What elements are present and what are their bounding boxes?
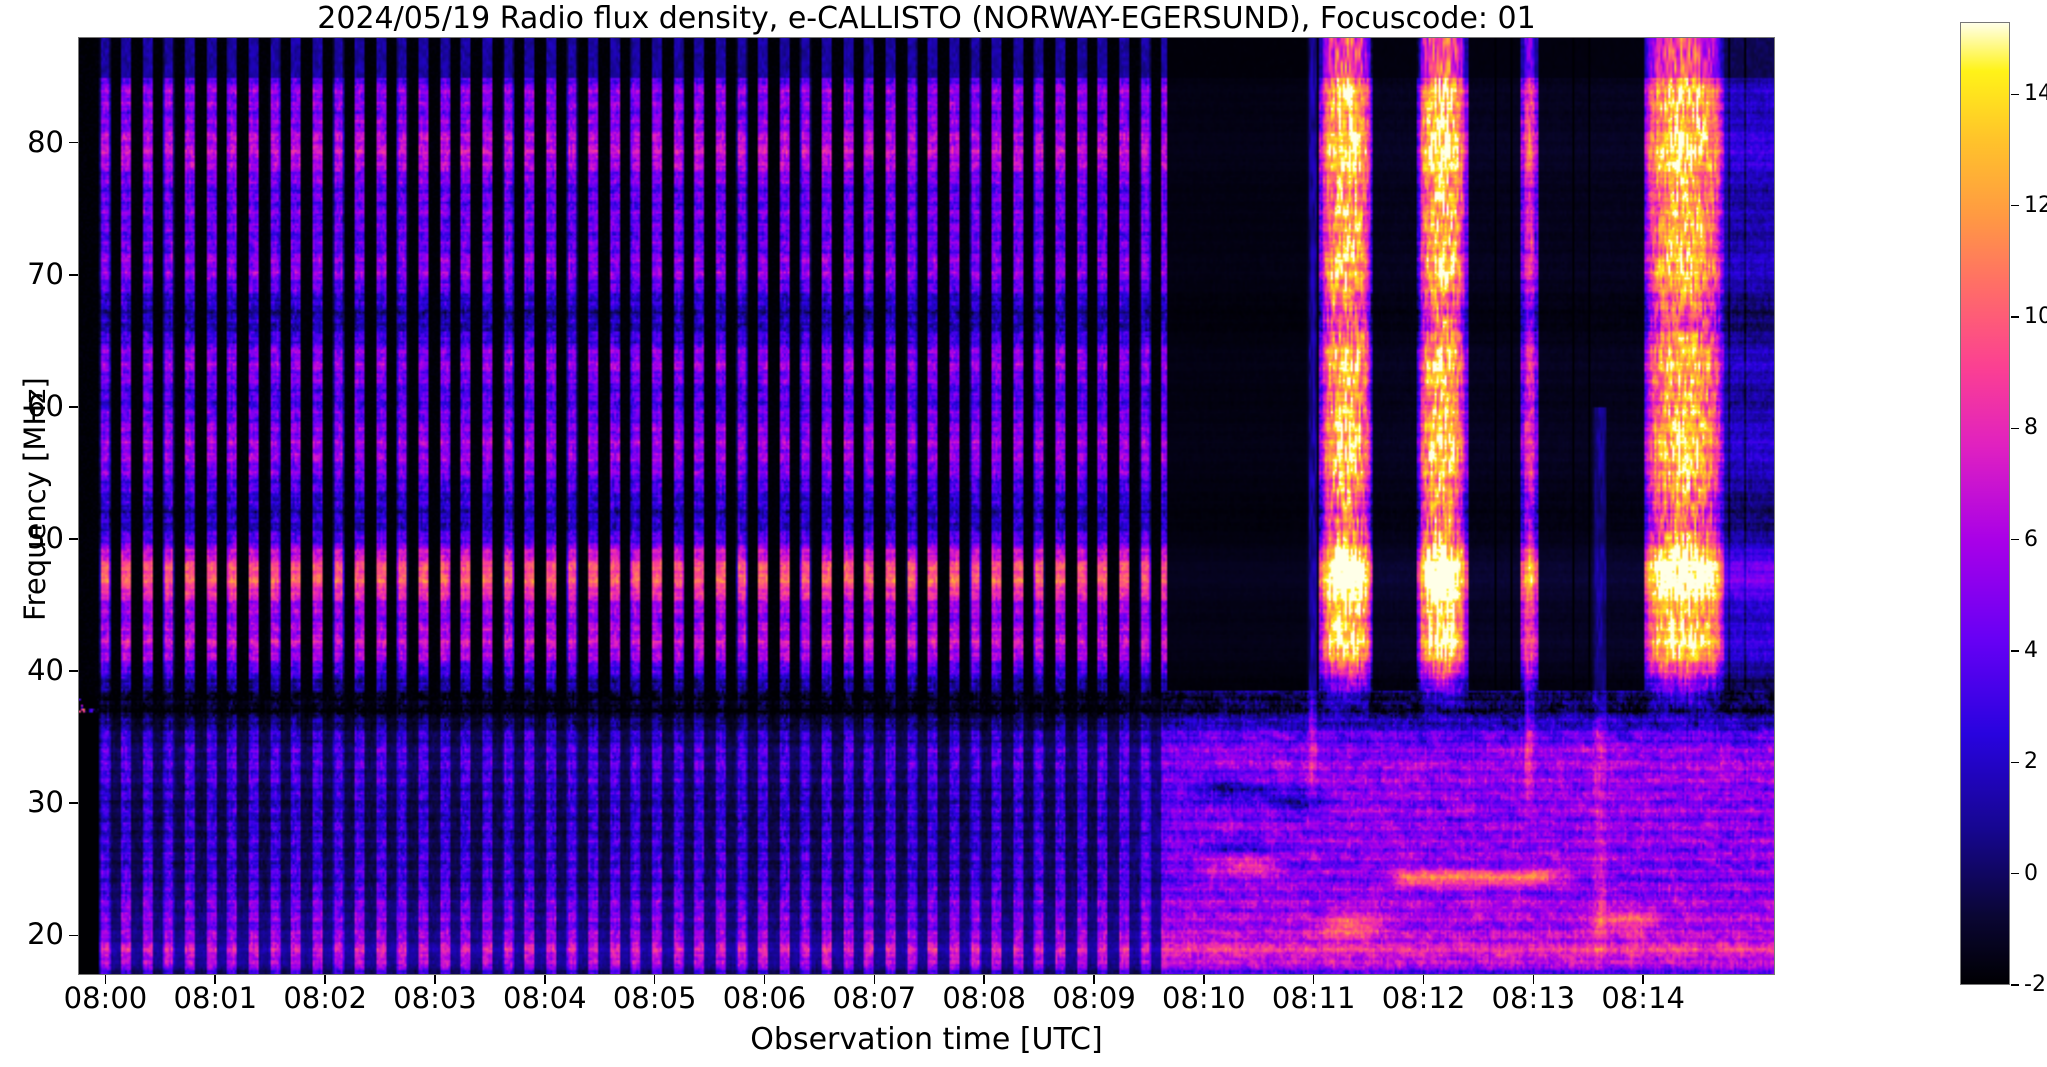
colorbar-tick-mark	[2011, 762, 2019, 764]
colorbar-tick-label: 6	[2024, 529, 2038, 551]
spectrogram-figure: 2024/05/19 Radio flux density, e-CALLIST…	[0, 0, 2047, 1067]
y-tick-label: 80	[2, 128, 64, 157]
colorbar-tick-mark	[2011, 984, 2019, 986]
colorbar-tick-label: 4	[2024, 640, 2038, 662]
y-tick-label: 20	[2, 920, 64, 949]
colorbar-tick-label: 8	[2024, 417, 2038, 439]
spectrogram-axes	[78, 37, 1775, 975]
colorbar-tick-mark	[2011, 539, 2019, 541]
colorbar-gradient	[1961, 23, 2009, 984]
y-axis-label: Frequency [MHz]	[18, 377, 52, 621]
y-tick-mark	[69, 670, 78, 672]
colorbar-tick-label: 0	[2024, 863, 2038, 885]
y-tick-mark	[69, 935, 78, 937]
colorbar-tick-mark	[2011, 873, 2019, 875]
y-tick-label: 70	[2, 260, 64, 289]
colorbar-tick-mark	[2011, 316, 2019, 318]
colorbar-tick-mark	[2011, 428, 2019, 430]
y-tick-mark	[69, 142, 78, 144]
colorbar-tick-mark	[2011, 650, 2019, 652]
y-tick-label: 40	[2, 656, 64, 685]
y-tick-mark	[69, 406, 78, 408]
spectrogram-image	[79, 38, 1774, 974]
colorbar-tick-label: 12	[2024, 195, 2047, 217]
colorbar-tick-label: 2	[2024, 751, 2038, 773]
x-axis-label: Observation time [UTC]	[78, 1022, 1775, 1057]
y-tick-mark	[69, 538, 78, 540]
colorbar-tick-label: -2	[2024, 974, 2046, 996]
colorbar	[1960, 22, 2010, 985]
colorbar-tick-label: 14	[2024, 83, 2047, 105]
colorbar-tick-label: 10	[2024, 306, 2047, 328]
colorbar-tick-mark	[2011, 94, 2019, 96]
colorbar-tick-mark	[2011, 205, 2019, 207]
page-title: 2024/05/19 Radio flux density, e-CALLIST…	[78, 2, 1775, 36]
y-tick-label: 30	[2, 788, 64, 817]
y-tick-mark	[69, 802, 78, 804]
x-tick-label: 08:14	[1563, 984, 1723, 1013]
y-tick-mark	[69, 274, 78, 276]
